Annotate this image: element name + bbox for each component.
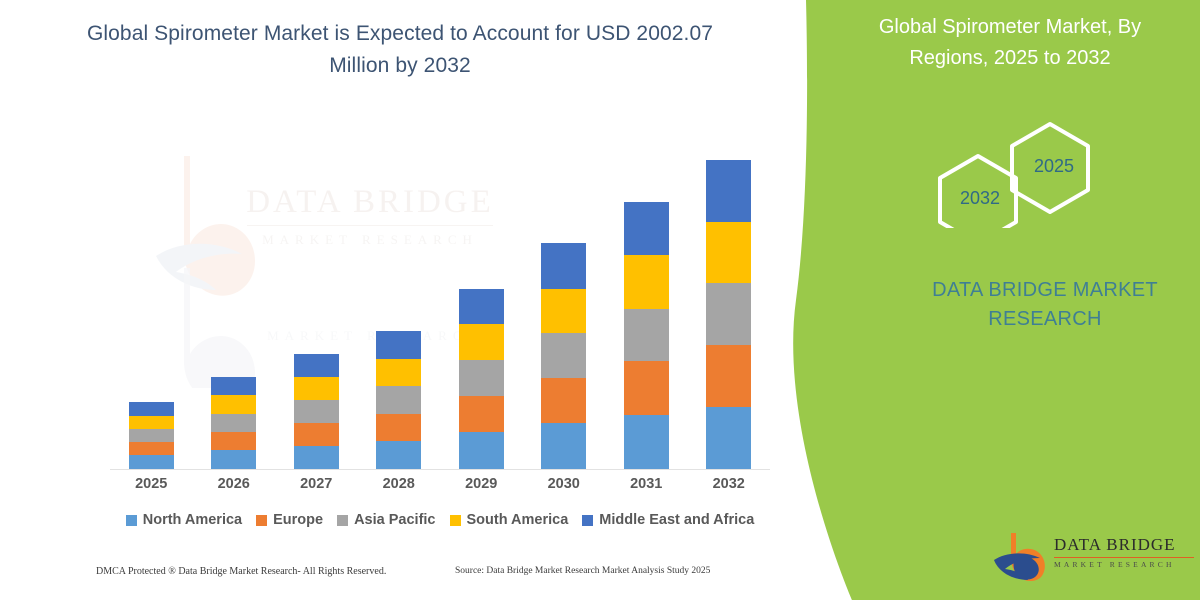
hexagon-group: 2025 2032	[930, 118, 1120, 228]
hexagon-2032-label: 2032	[942, 188, 1018, 209]
bar-slot	[440, 140, 523, 469]
legend-item-middle-east-and-africa[interactable]: Middle East and Africa	[582, 512, 754, 528]
legend-label: Middle East and Africa	[599, 512, 754, 528]
bar-segment-asia-pacific	[294, 400, 339, 423]
page-title: Global Spirometer Market is Expected to …	[60, 18, 740, 82]
bar-segment-middle-east-and-africa	[624, 202, 669, 255]
chart-panel: Global Spirometer Market is Expected to …	[0, 0, 810, 600]
stacked-bar	[459, 289, 504, 469]
bar-segment-asia-pacific	[706, 283, 751, 346]
bar-segment-middle-east-and-africa	[211, 377, 256, 395]
bar-slot	[523, 140, 606, 469]
x-axis-tick-label: 2032	[688, 476, 771, 492]
stacked-bar	[706, 160, 751, 469]
bar-segment-asia-pacific	[541, 333, 586, 378]
bar-segment-asia-pacific	[376, 386, 421, 414]
footer: DMCA Protected ® Data Bridge Market Rese…	[0, 566, 800, 590]
x-axis-tick-label: 2031	[605, 476, 688, 492]
bar-segment-middle-east-and-africa	[129, 402, 174, 416]
bar-segment-middle-east-and-africa	[294, 354, 339, 377]
legend-label: Europe	[273, 512, 323, 528]
legend-swatch-icon	[337, 515, 348, 526]
logo-rule	[1054, 557, 1194, 558]
bar-segment-europe	[541, 378, 586, 423]
legend-item-north-america[interactable]: North America	[126, 512, 242, 528]
bar-slot	[605, 140, 688, 469]
bar-slot	[358, 140, 441, 469]
stacked-bar	[294, 354, 339, 469]
bar-chart-plot	[110, 140, 770, 469]
logo-subtitle: MARKET RESEARCH	[1054, 560, 1194, 569]
bar-segment-north-america	[624, 415, 669, 469]
bar-segment-europe	[211, 432, 256, 450]
legend-swatch-icon	[582, 515, 593, 526]
bar-segment-north-america	[294, 446, 339, 469]
bar-slot	[688, 140, 771, 469]
hexagon-2025-label: 2025	[1016, 156, 1092, 177]
bar-segment-europe	[706, 345, 751, 407]
brand-name: DATA BRIDGE MARKET RESEARCH	[905, 276, 1185, 334]
stacked-bar	[541, 243, 586, 469]
bar-segment-north-america	[376, 441, 421, 469]
stacked-bar	[211, 377, 256, 469]
bar-segment-south-america	[541, 289, 586, 334]
bar-segment-asia-pacific	[129, 429, 174, 442]
bar-segment-middle-east-and-africa	[706, 160, 751, 222]
bar-segment-europe	[459, 396, 504, 432]
bar-segment-europe	[624, 361, 669, 415]
footer-source: Source: Data Bridge Market Research Mark…	[455, 566, 710, 576]
legend-label: South America	[467, 512, 569, 528]
bar-segment-south-america	[129, 416, 174, 429]
data-bridge-logo: DATA BRIDGE MARKET RESEARCH	[992, 530, 1192, 586]
bar-segment-south-america	[211, 395, 256, 414]
bar-segment-middle-east-and-africa	[376, 331, 421, 359]
x-axis-line	[110, 469, 770, 470]
legend-label: North America	[143, 512, 242, 528]
infographic-root: Global Spirometer Market is Expected to …	[0, 0, 1200, 600]
x-axis-tick-label: 2025	[110, 476, 193, 492]
bar-segment-south-america	[706, 222, 751, 283]
x-axis-tick-label: 2030	[523, 476, 606, 492]
stacked-bar	[129, 402, 174, 469]
logo-wordmark: DATA BRIDGE MARKET RESEARCH	[1054, 535, 1194, 569]
bar-segment-asia-pacific	[459, 360, 504, 396]
bar-segment-north-america	[459, 432, 504, 469]
bar-segment-europe	[294, 423, 339, 446]
green-panel-title: Global Spirometer Market, By Regions, 20…	[840, 12, 1180, 74]
legend-item-south-america[interactable]: South America	[450, 512, 569, 528]
legend-swatch-icon	[450, 515, 461, 526]
bar-segment-europe	[376, 414, 421, 441]
x-axis-tick-label: 2029	[440, 476, 523, 492]
bar-slot	[193, 140, 276, 469]
legend-item-asia-pacific[interactable]: Asia Pacific	[337, 512, 435, 528]
bar-segment-north-america	[706, 407, 751, 469]
bar-segment-north-america	[211, 450, 256, 469]
x-axis-labels: 20252026202720282029203020312032	[110, 476, 770, 492]
bar-slot	[275, 140, 358, 469]
x-axis-tick-label: 2027	[275, 476, 358, 492]
legend-swatch-icon	[126, 515, 137, 526]
legend-label: Asia Pacific	[354, 512, 435, 528]
bar-segment-south-america	[459, 324, 504, 360]
stacked-bar	[624, 202, 669, 469]
bar-segment-south-america	[376, 359, 421, 386]
x-axis-tick-label: 2026	[193, 476, 276, 492]
legend-swatch-icon	[256, 515, 267, 526]
x-axis-tick-label: 2028	[358, 476, 441, 492]
bar-segment-middle-east-and-africa	[541, 243, 586, 289]
chart-legend: North AmericaEuropeAsia PacificSouth Ame…	[110, 512, 770, 528]
bar-segment-asia-pacific	[211, 414, 256, 432]
bar-segment-south-america	[294, 377, 339, 400]
bar-segment-middle-east-and-africa	[459, 289, 504, 325]
bar-segment-north-america	[541, 423, 586, 469]
bar-segment-europe	[129, 442, 174, 455]
bar-segment-asia-pacific	[624, 309, 669, 362]
data-bridge-mark-icon	[992, 530, 1052, 582]
legend-item-europe[interactable]: Europe	[256, 512, 323, 528]
stacked-bar	[376, 331, 421, 469]
bar-segment-north-america	[129, 455, 174, 469]
footer-copyright: DMCA Protected ® Data Bridge Market Rese…	[96, 566, 386, 577]
bar-slot	[110, 140, 193, 469]
logo-title: DATA BRIDGE	[1054, 535, 1194, 555]
bar-segment-south-america	[624, 255, 669, 309]
